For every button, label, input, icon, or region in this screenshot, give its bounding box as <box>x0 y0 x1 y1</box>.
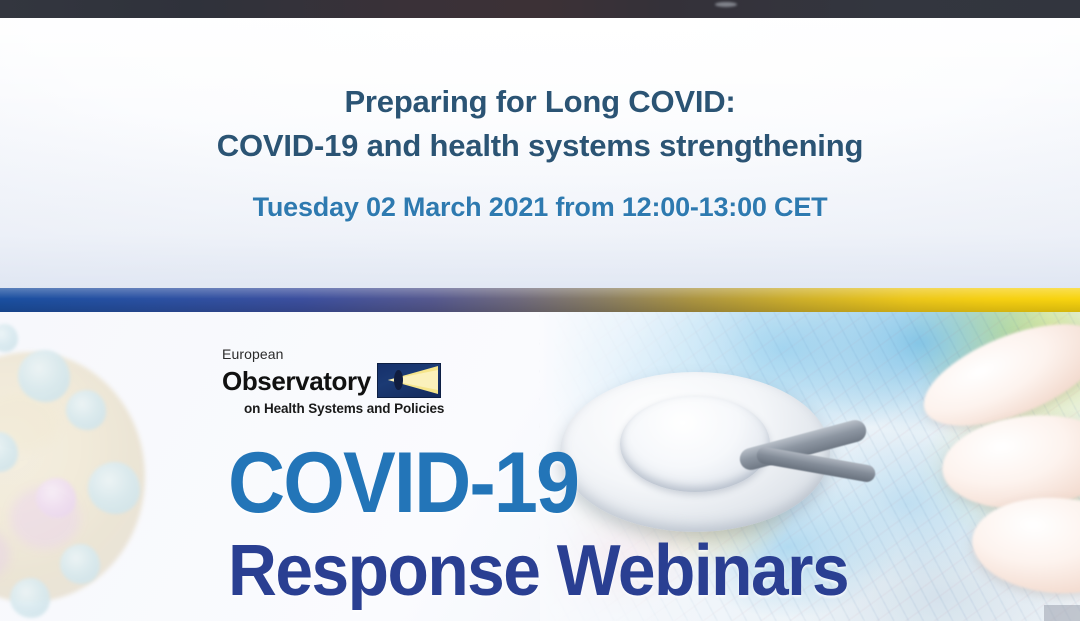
slide-title-area: Preparing for Long COVID: COVID-19 and h… <box>0 18 1080 288</box>
blue-yellow-divider-band <box>0 288 1080 312</box>
covid-response-webinars-banner: European Observatory on Health Systems a… <box>0 312 1080 621</box>
webinar-title-slide-screenshot: Preparing for Long COVID: COVID-19 and h… <box>0 0 1080 621</box>
hand-illustration <box>860 312 1080 621</box>
european-observatory-logo: European Observatory on Health Systems a… <box>222 346 462 417</box>
covid-response-webinars-wordmark: COVID-19 Response Webinars <box>228 440 888 610</box>
video-player-topbar <box>0 0 1080 18</box>
bottom-right-corner-strip <box>1044 605 1080 621</box>
logo-line-subtitle: on Health Systems and Policies <box>244 400 462 417</box>
webinar-datetime: Tuesday 02 March 2021 from 12:00-13:00 C… <box>0 188 1080 226</box>
topbar-glint <box>715 2 737 7</box>
observatory-eye-icon <box>377 363 441 398</box>
webinar-title-line-1: Preparing for Long COVID: <box>0 80 1080 124</box>
wordmark-response-webinars: Response Webinars <box>228 532 848 610</box>
webinar-title-line-2: COVID-19 and health systems strengthenin… <box>0 124 1080 168</box>
coronavirus-particle-icon <box>0 312 220 621</box>
title-block: Preparing for Long COVID: COVID-19 and h… <box>0 80 1080 226</box>
logo-line-observatory: Observatory <box>222 367 371 395</box>
logo-line-european: European <box>222 346 462 362</box>
wordmark-covid19: COVID-19 <box>228 440 835 526</box>
